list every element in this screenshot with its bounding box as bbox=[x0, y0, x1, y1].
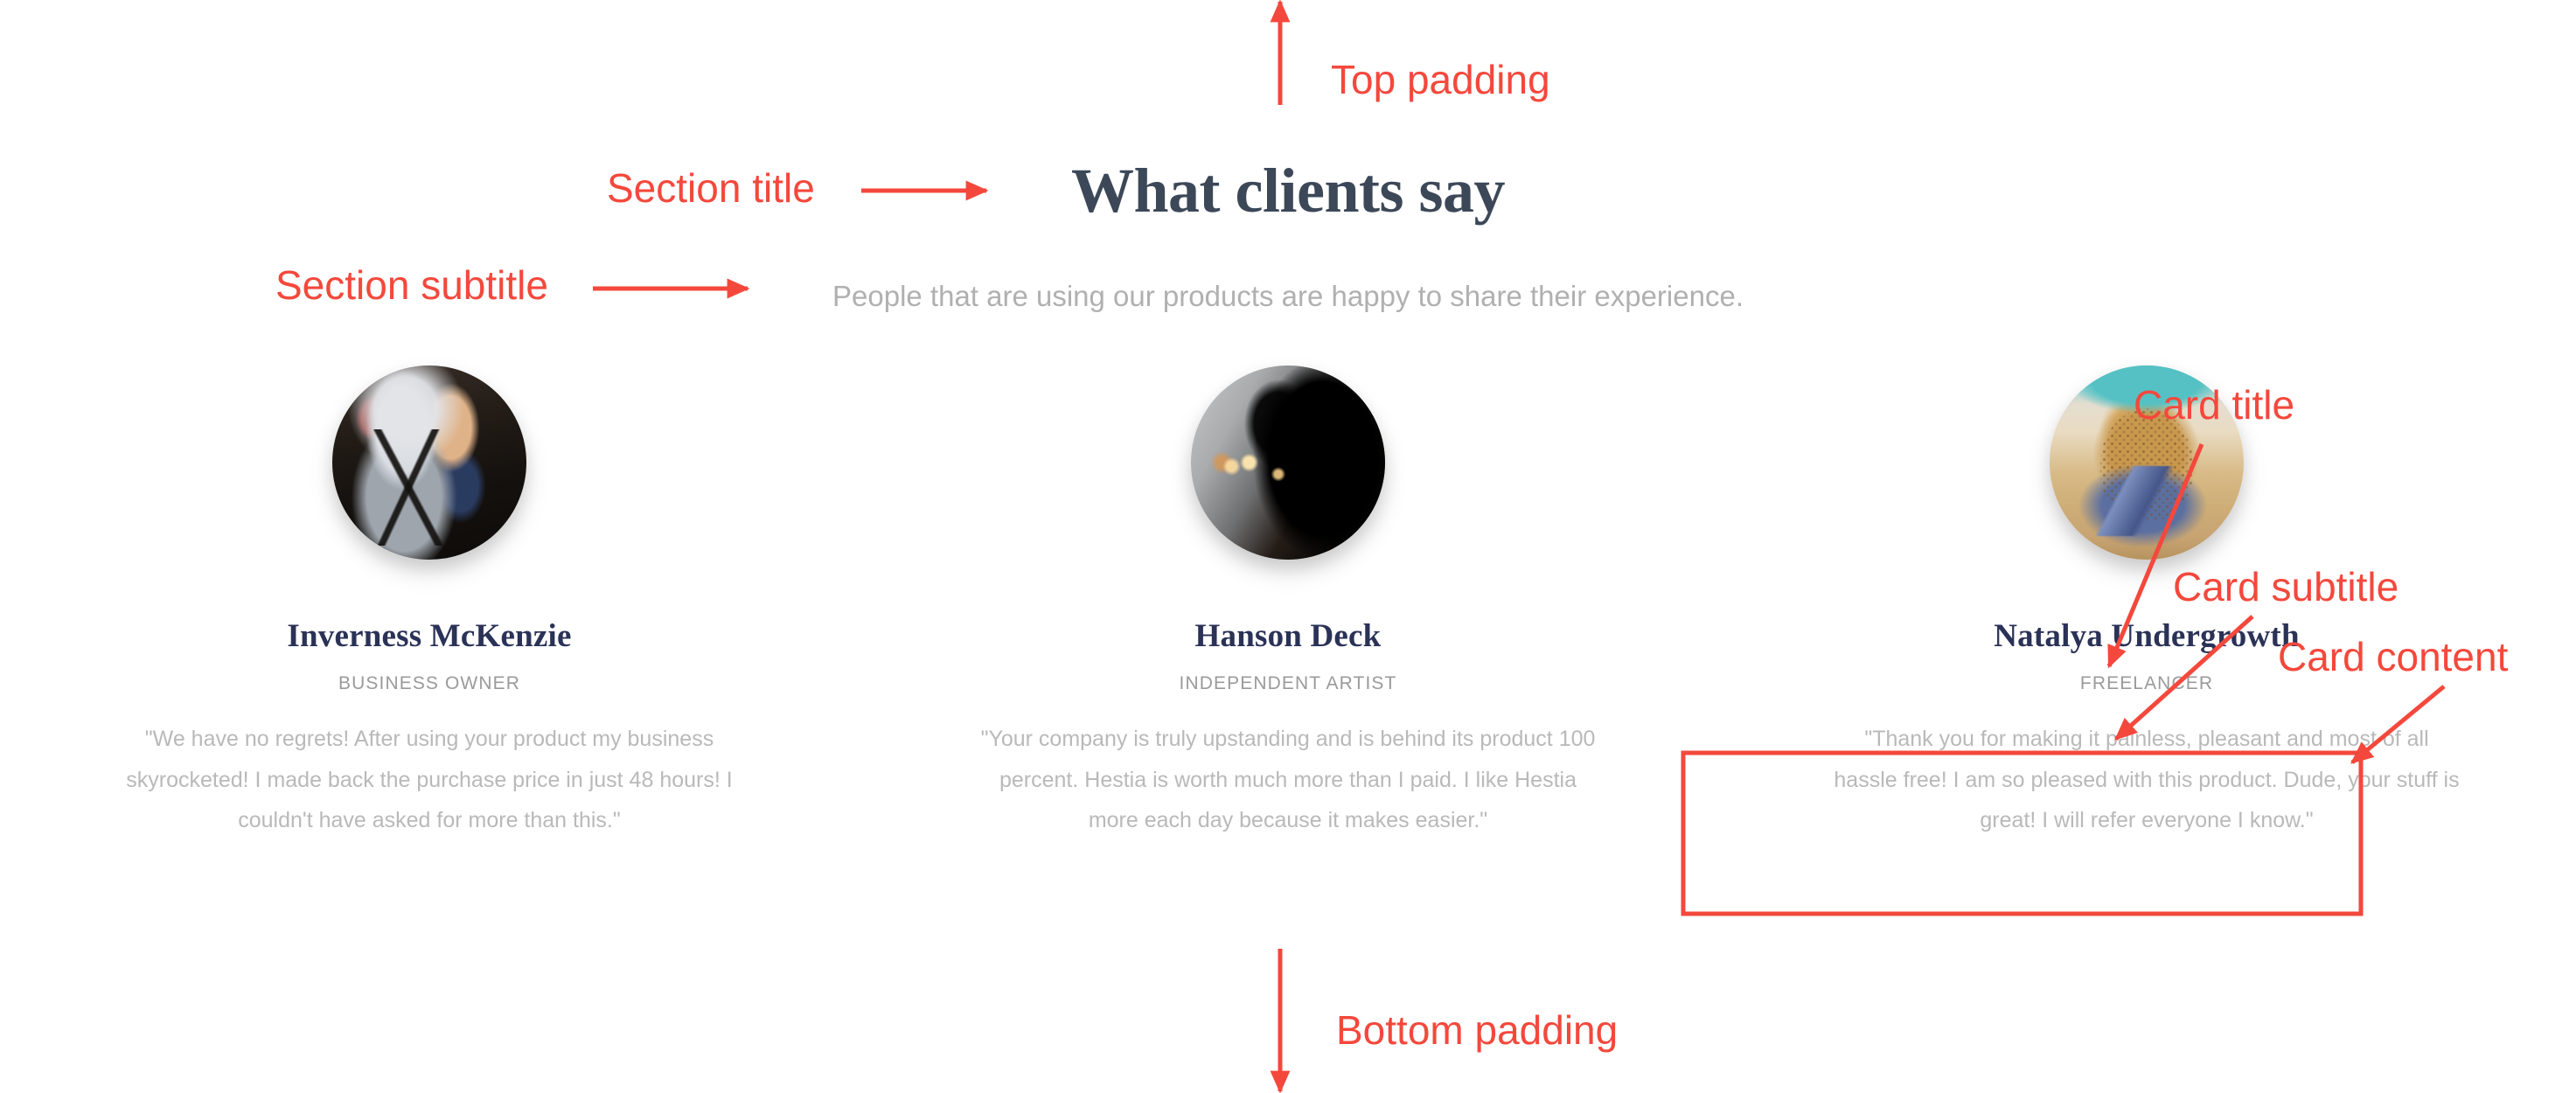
annotation-label-top-padding: Top padding bbox=[1331, 59, 1550, 100]
annotation-label-card-content: Card content bbox=[2278, 637, 2508, 677]
card-title: Inverness McKenzie bbox=[114, 617, 745, 656]
annotation-label-card-title: Card title bbox=[2134, 385, 2294, 425]
testimonials-section-annotated: What clients say People that are using o… bbox=[0, 0, 2576, 1093]
backpack-strap-detail bbox=[373, 429, 443, 546]
card-content: "Thank you for making it painless, pleas… bbox=[1831, 719, 2462, 840]
card-subtitle: INDEPENDENT ARTIST bbox=[972, 673, 1604, 694]
avatar bbox=[332, 365, 526, 560]
testimonial-card: Hanson Deck INDEPENDENT ARTIST "Your com… bbox=[859, 365, 1717, 840]
avatar-photo bbox=[1191, 365, 1385, 560]
annotation-label-section-subtitle: Section subtitle bbox=[275, 265, 548, 305]
annotation-label-section-title: Section title bbox=[607, 168, 815, 208]
card-content: "Your company is truly upstanding and is… bbox=[972, 719, 1604, 840]
testimonial-card: Natalya Undergrowth FREELANCER "Thank yo… bbox=[1717, 365, 2576, 840]
testimonial-card: Inverness McKenzie BUSINESS OWNER "We ha… bbox=[0, 365, 859, 840]
card-subtitle: BUSINESS OWNER bbox=[114, 673, 745, 694]
card-title: Hanson Deck bbox=[972, 617, 1604, 656]
section-title: What clients say bbox=[0, 159, 2576, 222]
card-content: "We have no regrets! After using your pr… bbox=[114, 719, 745, 840]
annotation-label-card-subtitle: Card subtitle bbox=[2173, 567, 2398, 607]
hat-ribbon-detail bbox=[2096, 466, 2177, 536]
annotation-label-bottom-padding: Bottom padding bbox=[1336, 1010, 1618, 1050]
avatar bbox=[1191, 365, 1385, 560]
